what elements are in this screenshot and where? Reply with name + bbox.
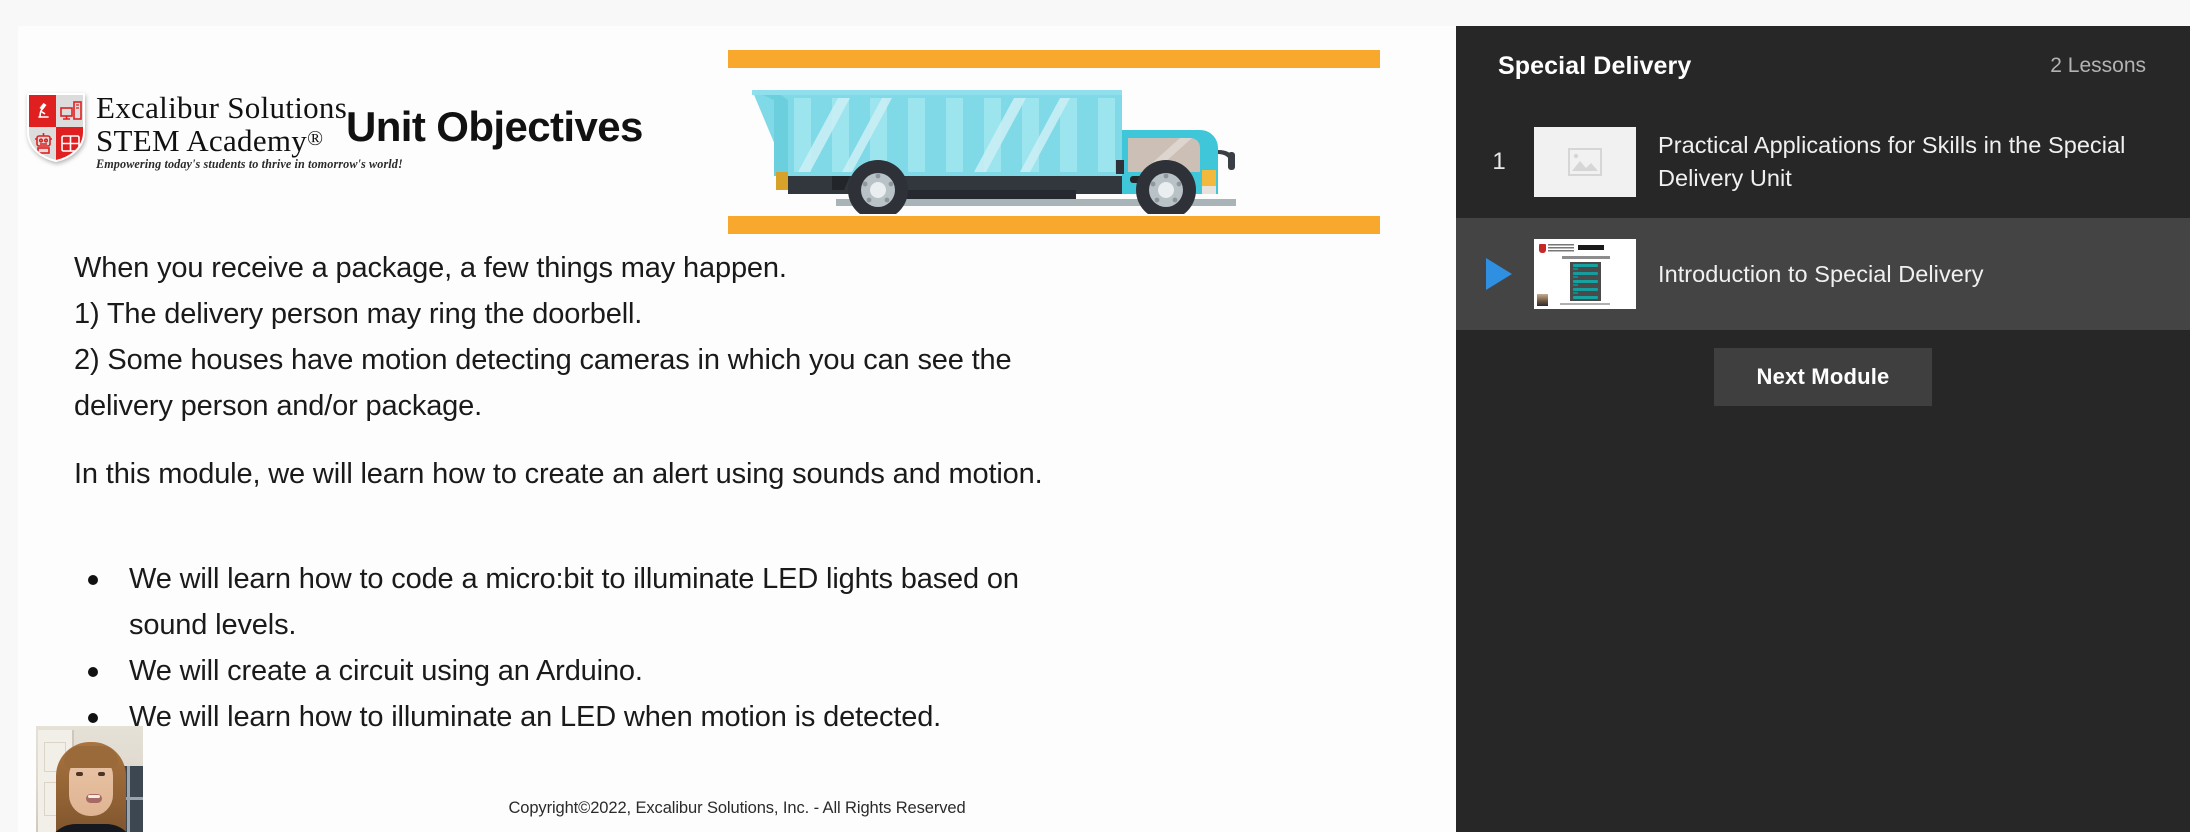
mini-slide-subtitle — [1562, 256, 1610, 259]
lesson-thumbnail-placeholder — [1534, 127, 1636, 197]
lesson-title: Practical Applications for Skills in the… — [1658, 129, 2160, 195]
slide-body-text: When you receive a package, a few things… — [74, 245, 1074, 497]
body-line-3: 2) Some houses have motion detecting cam… — [74, 344, 1012, 422]
paragraph-1: When you receive a package, a few things… — [74, 245, 1074, 429]
logo-tagline: Empowering today's students to thrive in… — [96, 157, 403, 172]
mini-slide-title — [1578, 245, 1604, 250]
orange-bar-bottom — [728, 216, 1380, 234]
slide-preview-image — [1534, 239, 1636, 309]
body-line-2: 1) The delivery person may ring the door… — [74, 298, 642, 330]
lesson-index: 1 — [1478, 148, 1520, 176]
slide-title: Unit Objectives — [346, 103, 643, 151]
presenter-mouth — [86, 794, 102, 803]
presenter-webcam-overlay[interactable] — [36, 726, 143, 832]
copyright-text: Copyright©2022, Excalibur Solutions, Inc… — [18, 799, 1456, 818]
lesson-count: 2 Lessons — [2050, 54, 2146, 78]
mini-webcam — [1537, 294, 1548, 306]
play-icon[interactable] — [1478, 257, 1520, 291]
module-sidebar: Special Delivery 2 Lessons 1 Practical A… — [1456, 26, 2190, 832]
sidebar-header: Special Delivery 2 Lessons — [1456, 26, 2190, 106]
lesson-thumbnail-preview — [1534, 239, 1636, 309]
paragraph-2: In this module, we will learn how to cre… — [74, 451, 1074, 497]
mini-shield-icon — [1539, 244, 1546, 253]
mini-code-blocks — [1570, 262, 1601, 301]
lesson-row-2[interactable]: Introduction to Special Delivery — [1456, 218, 2190, 330]
image-placeholder-icon — [1568, 148, 1602, 176]
next-module-button[interactable]: Next Module — [1714, 348, 1932, 406]
slide-canvas: Excalibur Solutions STEM Academy® Empowe… — [18, 26, 1456, 832]
module-title: Special Delivery — [1498, 52, 1691, 81]
presenter-eye-right — [98, 772, 105, 776]
list-item: We will learn how to illuminate an LED w… — [74, 694, 1084, 740]
next-module-container: Next Module — [1456, 330, 2190, 406]
course-player-screen: Excalibur Solutions STEM Academy® Empowe… — [0, 0, 2190, 832]
lesson-title: Introduction to Special Delivery — [1658, 258, 1984, 291]
mini-logo-text — [1548, 244, 1574, 252]
mini-footer-text — [1560, 303, 1610, 305]
lesson-row-1[interactable]: 1 Practical Applications for Skills in t… — [1456, 106, 2190, 218]
delivery-truck-illustration — [728, 50, 1380, 234]
presenter-bangs — [64, 746, 118, 768]
list-item: We will learn how to code a micro:bit to… — [74, 556, 1084, 648]
truck-icon — [746, 72, 1356, 214]
registered-mark: ® — [307, 126, 323, 150]
orange-bar-top — [728, 50, 1380, 68]
list-item: We will create a circuit using an Arduin… — [74, 648, 1084, 694]
body-line-1: When you receive a package, a few things… — [74, 252, 787, 284]
objectives-list: We will learn how to code a micro:bit to… — [74, 556, 1084, 740]
shield-logo-icon — [26, 92, 86, 162]
presenter-eye-left — [76, 772, 83, 776]
